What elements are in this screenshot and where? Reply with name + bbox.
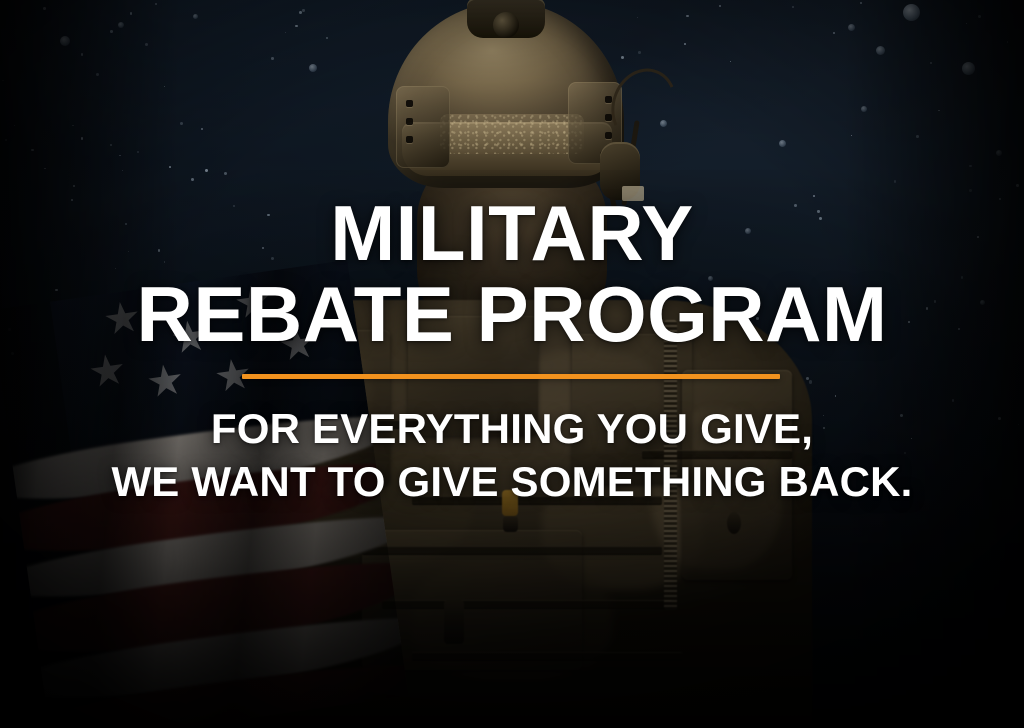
subhead-line-1: FOR EVERYTHING YOU GIVE, bbox=[211, 405, 813, 452]
headline-line-1: MILITARY bbox=[330, 196, 694, 271]
military-rebate-program-banner: MILITARY REBATE PROGRAM FOR EVERYTHING Y… bbox=[0, 0, 1024, 728]
subhead-line-2: WE WANT TO GIVE SOMETHING BACK. bbox=[111, 458, 912, 505]
headline-line-2: REBATE PROGRAM bbox=[137, 277, 888, 352]
orange-divider-rule bbox=[242, 374, 780, 379]
banner-content: MILITARY REBATE PROGRAM FOR EVERYTHING Y… bbox=[0, 0, 1024, 728]
